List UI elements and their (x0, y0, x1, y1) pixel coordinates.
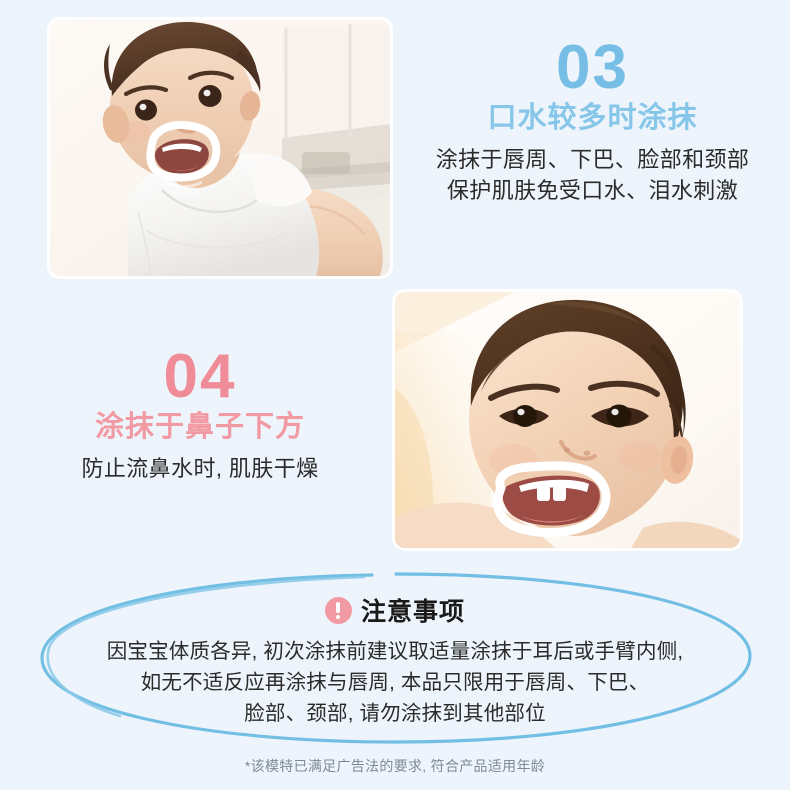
section-03-number: 03 (400, 36, 785, 99)
notice-box: 注意事项 因宝宝体质各异, 初次涂抹前建议取适量涂抹于耳后或手臂内侧, 如无不适… (34, 568, 756, 750)
section-04-subtitle: 涂抹于鼻子下方 (25, 410, 375, 445)
section-03-body: 涂抹于唇周、下巴、脸部和颈部 保护肌肤免受口水、泪水刺激 (400, 144, 785, 206)
section-03-subtitle: 口水较多时涂抹 (400, 101, 785, 136)
section-04-number: 04 (25, 345, 375, 408)
notice-line-2: 如无不适反应再涂抹与唇周, 本品只限用于唇周、下巴、 (34, 667, 756, 698)
section-04: 04 涂抹于鼻子下方 防止流鼻水时, 肌肤干燥 (25, 345, 375, 484)
baby-photo-01 (50, 20, 390, 276)
exclamation-circle-icon (325, 597, 352, 624)
baby-photo-01-image (50, 20, 390, 276)
section-04-body: 防止流鼻水时, 肌肤干燥 (25, 453, 375, 484)
section-04-body-line-1: 防止流鼻水时, 肌肤干燥 (25, 453, 375, 484)
notice-line-3: 脸部、颈部, 请勿涂抹到其他部位 (34, 698, 756, 729)
notice-line-1: 因宝宝体质各异, 初次涂抹前建议取适量涂抹于耳后或手臂内侧, (34, 636, 756, 667)
product-detail-page: 03 口水较多时涂抹 涂抹于唇周、下巴、脸部和颈部 保护肌肤免受口水、泪水刺激 … (0, 0, 790, 790)
baby-photo-02 (395, 292, 740, 548)
notice-header: 注意事项 (34, 592, 756, 628)
notice-title: 注意事项 (361, 592, 465, 628)
notice-text: 因宝宝体质各异, 初次涂抹前建议取适量涂抹于耳后或手臂内侧, 如无不适反应再涂抹… (34, 636, 756, 729)
section-03: 03 口水较多时涂抹 涂抹于唇周、下巴、脸部和颈部 保护肌肤免受口水、泪水刺激 (400, 36, 785, 206)
section-03-body-line-2: 保护肌肤免受口水、泪水刺激 (400, 175, 785, 206)
section-03-body-line-1: 涂抹于唇周、下巴、脸部和颈部 (400, 144, 785, 175)
baby-photo-02-image (395, 292, 740, 548)
footer-disclaimer: *该模特已满足广告法的要求, 符合产品适用年龄 (0, 756, 790, 776)
notice-content: 注意事项 因宝宝体质各异, 初次涂抹前建议取适量涂抹于耳后或手臂内侧, 如无不适… (34, 568, 756, 729)
